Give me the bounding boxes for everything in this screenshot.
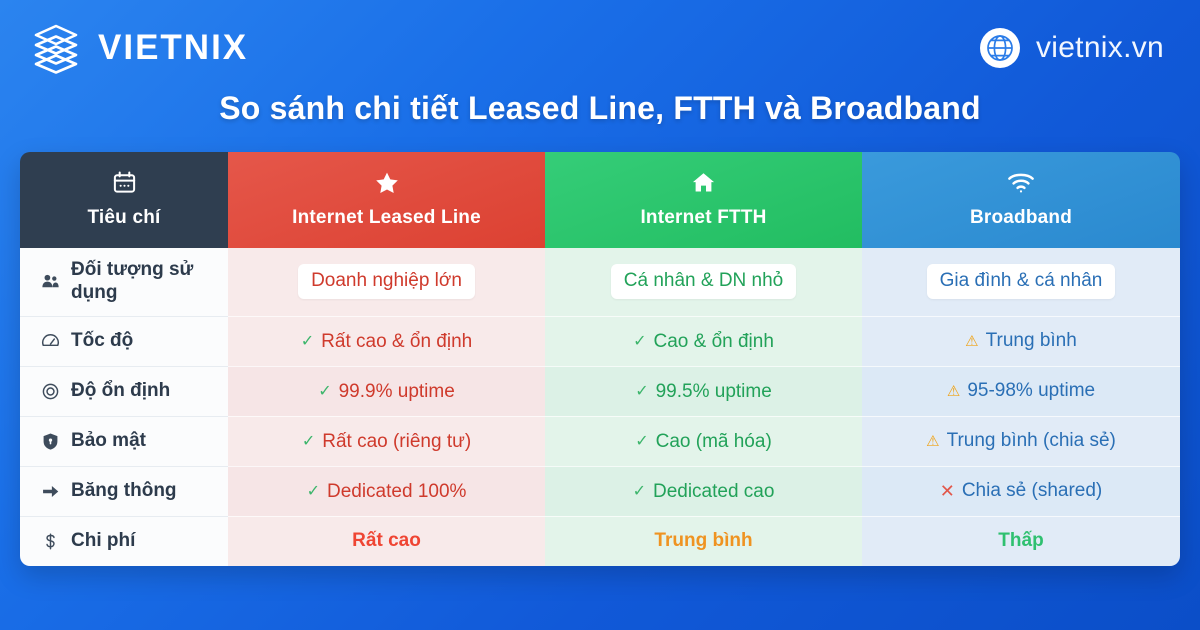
value-ftth: ✓Cao & ổn định: [545, 316, 862, 366]
users-group-icon: [40, 272, 60, 291]
value-text: Cao (mã hóa): [656, 431, 772, 453]
criteria-cell: Đối tượng sử dụng: [20, 248, 228, 316]
value-leased-line: ✓99.9% uptime: [228, 366, 545, 416]
value-text: Trung bình (chia sẻ): [947, 430, 1116, 452]
header-leased-line-label: Internet Leased Line: [234, 207, 539, 229]
value-text: Trung bình: [654, 530, 752, 551]
header-criteria-label: Tiêu chí: [26, 207, 222, 229]
value-pill: Doanh nghiệp lớn: [298, 264, 475, 299]
value-broadband: ⚠95-98% uptime: [862, 366, 1180, 416]
value-text: Thấp: [998, 530, 1043, 551]
value-ftth: ✓Cao (mã hóa): [545, 416, 862, 466]
top-bar: VIETNIX vietnix.vn: [0, 0, 1200, 95]
value-leased-line: Doanh nghiệp lớn: [228, 248, 545, 316]
check-icon: ✓: [633, 334, 646, 350]
target-icon: [40, 382, 60, 401]
header-ftth: Internet FTTH: [545, 152, 862, 248]
criteria-label: Chi phí: [71, 530, 135, 552]
value-pill: Cá nhân & DN nhỏ: [611, 264, 797, 299]
table-row: Độ ổn định ✓99.9% uptime ✓99.5% uptime ⚠…: [20, 366, 1180, 416]
cross-icon: ✕: [940, 482, 955, 500]
brand-name: VIETNIX: [98, 30, 248, 65]
stacked-layers-icon: [28, 20, 84, 76]
criteria-cell: Tốc độ: [20, 316, 228, 366]
table-row: Băng thông ✓Dedicated 100% ✓Dedicated ca…: [20, 466, 1180, 516]
value-text: Cao & ổn định: [653, 331, 773, 353]
arrow-right-icon: [40, 482, 60, 501]
brand-logo[interactable]: VIETNIX: [28, 20, 248, 76]
value-text: Dedicated 100%: [327, 481, 466, 503]
globe-icon: [978, 26, 1022, 70]
value-leased-line: ✓Rất cao (riêng tư): [228, 416, 545, 466]
dollar-icon: [40, 532, 60, 551]
criteria-label: Tốc độ: [71, 330, 133, 352]
value-leased-line: ✓Dedicated 100%: [228, 466, 545, 516]
value-text: Chia sẻ (shared): [962, 480, 1102, 502]
criteria-cell: Băng thông: [20, 466, 228, 516]
header-broadband: Broadband: [862, 152, 1180, 248]
site-url-text: vietnix.vn: [1036, 31, 1164, 65]
check-icon: ✓: [301, 334, 314, 350]
value-text: 95-98% uptime: [967, 380, 1095, 402]
value-text: Rất cao & ổn định: [321, 331, 472, 353]
header-broadband-label: Broadband: [868, 207, 1174, 229]
wifi-icon: [868, 168, 1174, 198]
site-url-block[interactable]: vietnix.vn: [978, 26, 1164, 70]
check-icon: ✓: [307, 484, 320, 500]
value-broadband: ✕Chia sẻ (shared): [862, 466, 1180, 516]
criteria-label: Bảo mật: [71, 430, 146, 452]
value-ftth: ✓99.5% uptime: [545, 366, 862, 416]
check-icon: ✓: [302, 434, 315, 450]
value-leased-line: Rất cao: [228, 516, 545, 566]
table-header-row: Tiêu chí Internet Leased Line Internet F…: [20, 152, 1180, 248]
value-broadband: Gia đình & cá nhân: [862, 248, 1180, 316]
value-pill: Gia đình & cá nhân: [927, 264, 1116, 299]
check-icon: ✓: [318, 384, 331, 400]
value-text: Rất cao (riêng tư): [322, 431, 471, 453]
header-criteria: Tiêu chí: [20, 152, 228, 248]
table-row: Bảo mật ✓Rất cao (riêng tư) ✓Cao (mã hóa…: [20, 416, 1180, 466]
criteria-label: Đối tượng sử dụng: [71, 259, 228, 304]
criteria-cell: Độ ổn định: [20, 366, 228, 416]
warning-icon: ⚠: [947, 384, 960, 399]
check-icon: ✓: [635, 384, 648, 400]
comparison-table: Tiêu chí Internet Leased Line Internet F…: [20, 152, 1180, 566]
comparison-table-card: Tiêu chí Internet Leased Line Internet F…: [20, 152, 1180, 566]
value-text: Rất cao: [352, 530, 421, 551]
value-text: 99.5% uptime: [656, 381, 772, 403]
value-ftth: Trung bình: [545, 516, 862, 566]
value-text: Dedicated cao: [653, 481, 774, 503]
header-leased-line: Internet Leased Line: [228, 152, 545, 248]
value-text: Trung bình: [986, 330, 1077, 352]
warning-icon: ⚠: [926, 434, 939, 449]
warning-icon: ⚠: [965, 334, 978, 349]
check-icon: ✓: [633, 484, 646, 500]
criteria-label: Độ ổn định: [71, 380, 170, 402]
value-broadband: Thấp: [862, 516, 1180, 566]
table-row: Chi phí Rất cao Trung bình Thấp: [20, 516, 1180, 566]
value-leased-line: ✓Rất cao & ổn định: [228, 316, 545, 366]
shield-icon: [40, 432, 60, 451]
home-icon: [551, 168, 856, 198]
header-ftth-label: Internet FTTH: [551, 207, 856, 229]
calendar-icon: [26, 168, 222, 198]
page-title: So sánh chi tiết Leased Line, FTTH và Br…: [0, 90, 1200, 127]
check-icon: ✓: [635, 434, 648, 450]
table-row: Đối tượng sử dụng Doanh nghiệp lớn Cá nh…: [20, 248, 1180, 316]
star-icon: [234, 168, 539, 198]
criteria-cell: Chi phí: [20, 516, 228, 566]
value-text: 99.9% uptime: [339, 381, 455, 403]
gauge-icon: [40, 332, 60, 351]
table-row: Tốc độ ✓Rất cao & ổn định ✓Cao & ổn định…: [20, 316, 1180, 366]
value-broadband: ⚠Trung bình (chia sẻ): [862, 416, 1180, 466]
value-ftth: Cá nhân & DN nhỏ: [545, 248, 862, 316]
value-ftth: ✓Dedicated cao: [545, 466, 862, 516]
value-broadband: ⚠Trung bình: [862, 316, 1180, 366]
criteria-label: Băng thông: [71, 480, 177, 502]
criteria-cell: Bảo mật: [20, 416, 228, 466]
